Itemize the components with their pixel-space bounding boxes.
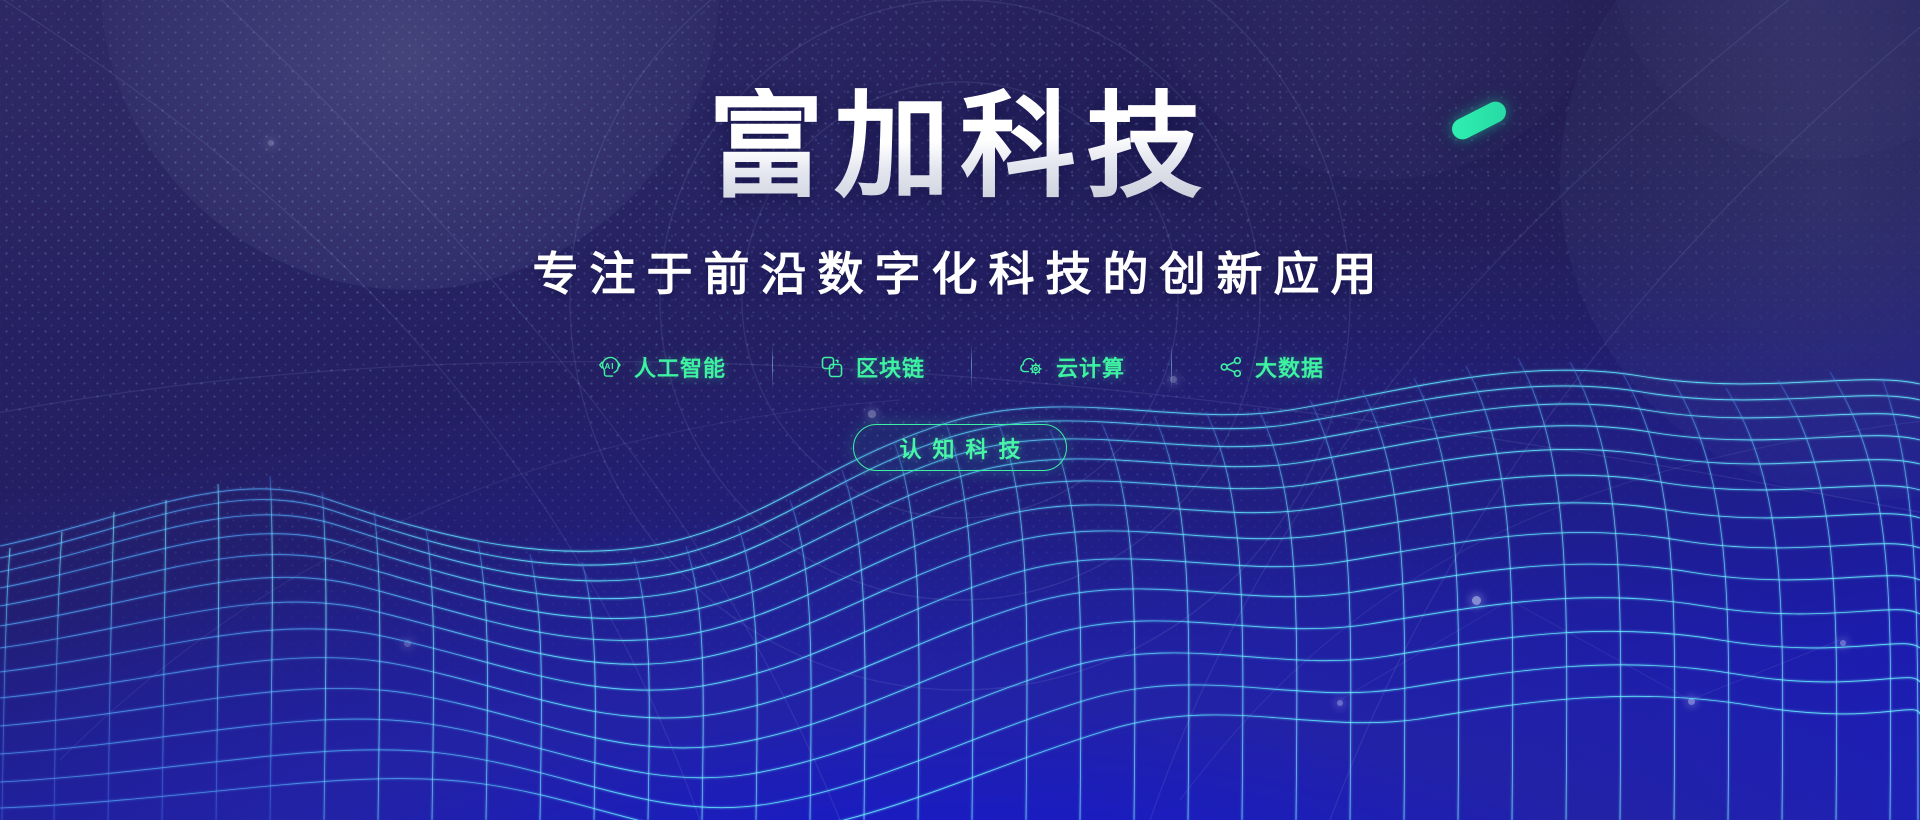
feature-tag-list: AI 人工智能 区块链 — [550, 344, 1370, 390]
ai-head-icon: AI — [596, 354, 623, 381]
hero-banner: 富加科技 专注于前沿数字化科技的创新应用 AI 人工智能 — [0, 0, 1920, 820]
brand-logo-title: 富加科技 — [708, 88, 1212, 204]
cloud-gear-icon — [1018, 354, 1045, 381]
feature-tag-bigdata[interactable]: 大数据 — [1172, 351, 1370, 383]
feature-tag-label: 云计算 — [1056, 351, 1125, 383]
hero-subtitle: 专注于前沿数字化科技的创新应用 — [533, 238, 1388, 304]
feature-tag-label: 区块链 — [856, 351, 925, 383]
cognitive-tech-badge[interactable]: 认知科技 — [853, 424, 1066, 471]
blockchain-icon — [819, 354, 845, 380]
feature-tag-cloud[interactable]: 云计算 — [972, 351, 1171, 383]
logo-accent-stroke — [1448, 98, 1509, 143]
feature-tag-label: 人工智能 — [634, 351, 726, 383]
brand-logo-text: 富加科技 — [708, 81, 1212, 211]
feature-tag-ai[interactable]: AI 人工智能 — [550, 351, 772, 383]
feature-tag-blockchain[interactable]: 区块链 — [773, 351, 971, 383]
svg-text:AI: AI — [604, 362, 614, 371]
share-nodes-icon — [1218, 354, 1244, 380]
feature-tag-label: 大数据 — [1255, 351, 1324, 383]
hero-content: 富加科技 专注于前沿数字化科技的创新应用 AI 人工智能 — [0, 0, 1920, 820]
